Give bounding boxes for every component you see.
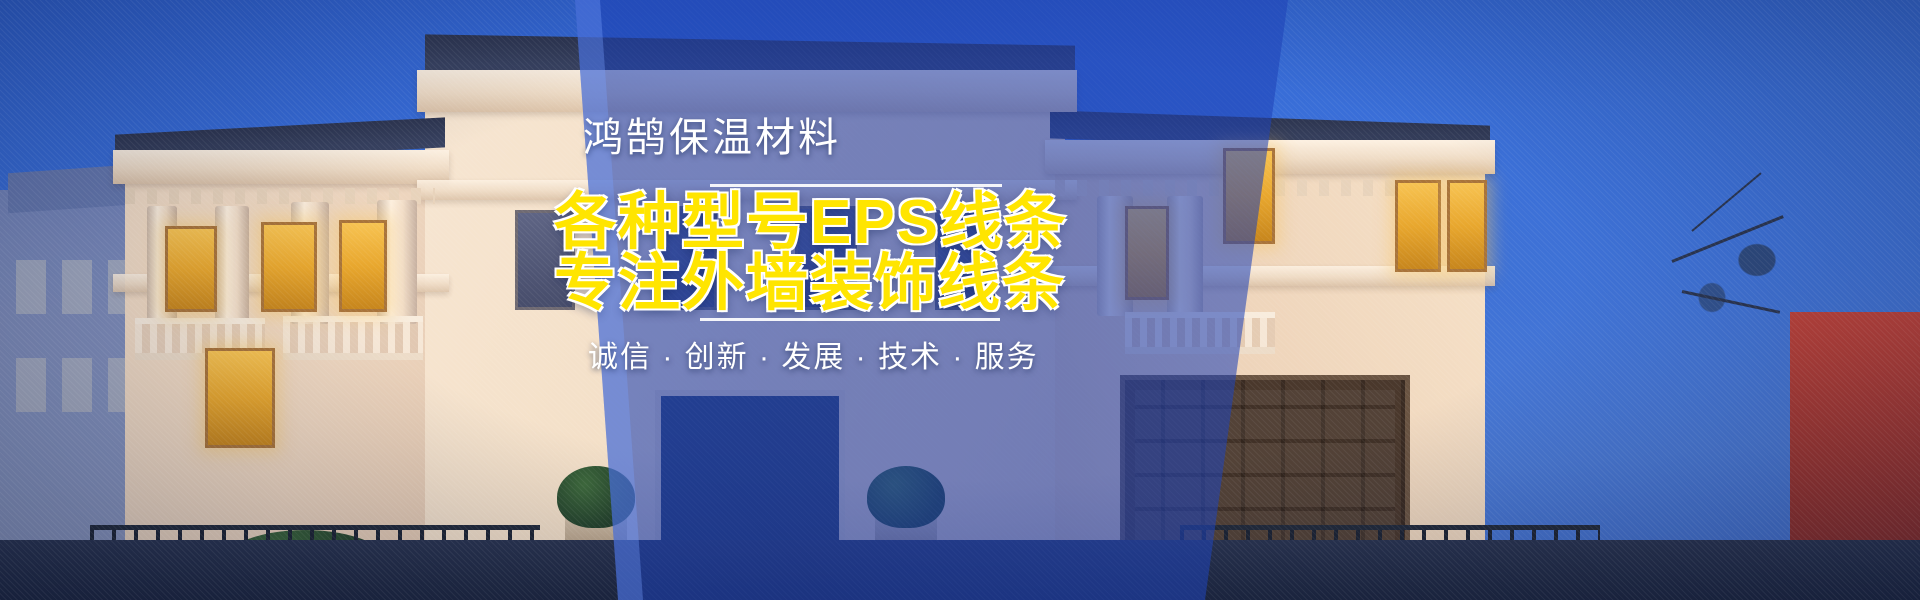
brand-name: 鸿鹄保温材料	[583, 105, 841, 163]
tagline: 诚信 · 创新 · 发展 · 技术 · 服务	[588, 332, 1039, 376]
divider-top	[710, 184, 1002, 187]
headline-line-1: 各种型号EPS线条	[554, 192, 1068, 254]
headline-line-2: 专注外墙装饰线条	[554, 253, 1066, 315]
divider-bottom	[700, 318, 1000, 321]
banner-content: 鸿鹄保温材料 各种型号EPS线条 专注外墙装饰线条 诚信 · 创新 · 发展 ·…	[0, 0, 1920, 600]
hero-banner: 鸿鹄保温材料 各种型号EPS线条 专注外墙装饰线条 诚信 · 创新 · 发展 ·…	[0, 0, 1920, 600]
